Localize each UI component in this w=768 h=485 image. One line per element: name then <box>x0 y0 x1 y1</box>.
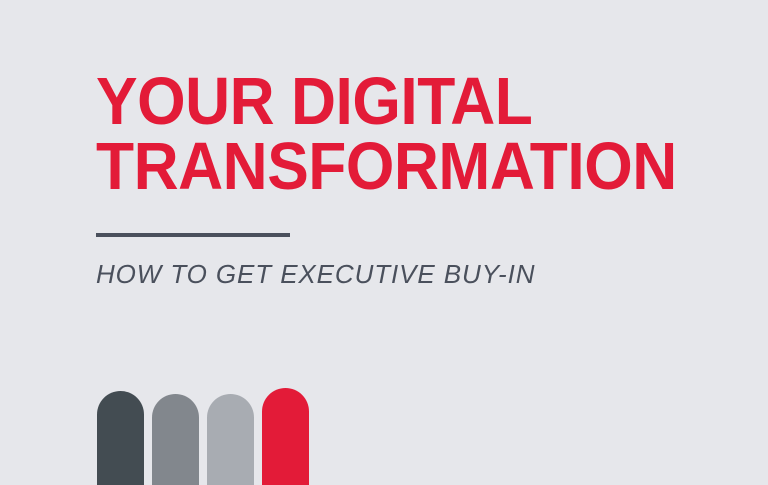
title-line-1: YOUR DIGITAL <box>96 74 710 129</box>
subtitle: HOW TO GET EXECUTIVE BUY-IN <box>96 258 535 290</box>
title-divider-rule <box>96 233 290 237</box>
bar-2 <box>152 394 199 485</box>
bar-1 <box>97 391 144 485</box>
page-title: YOUR DIGITAL TRANSFORMATION <box>96 74 756 194</box>
bar-4 <box>262 388 309 485</box>
title-line-2: TRANSFORMATION <box>96 139 710 194</box>
slide-canvas: YOUR DIGITAL TRANSFORMATION HOW TO GET E… <box>0 0 768 485</box>
bar-3 <box>207 394 254 485</box>
